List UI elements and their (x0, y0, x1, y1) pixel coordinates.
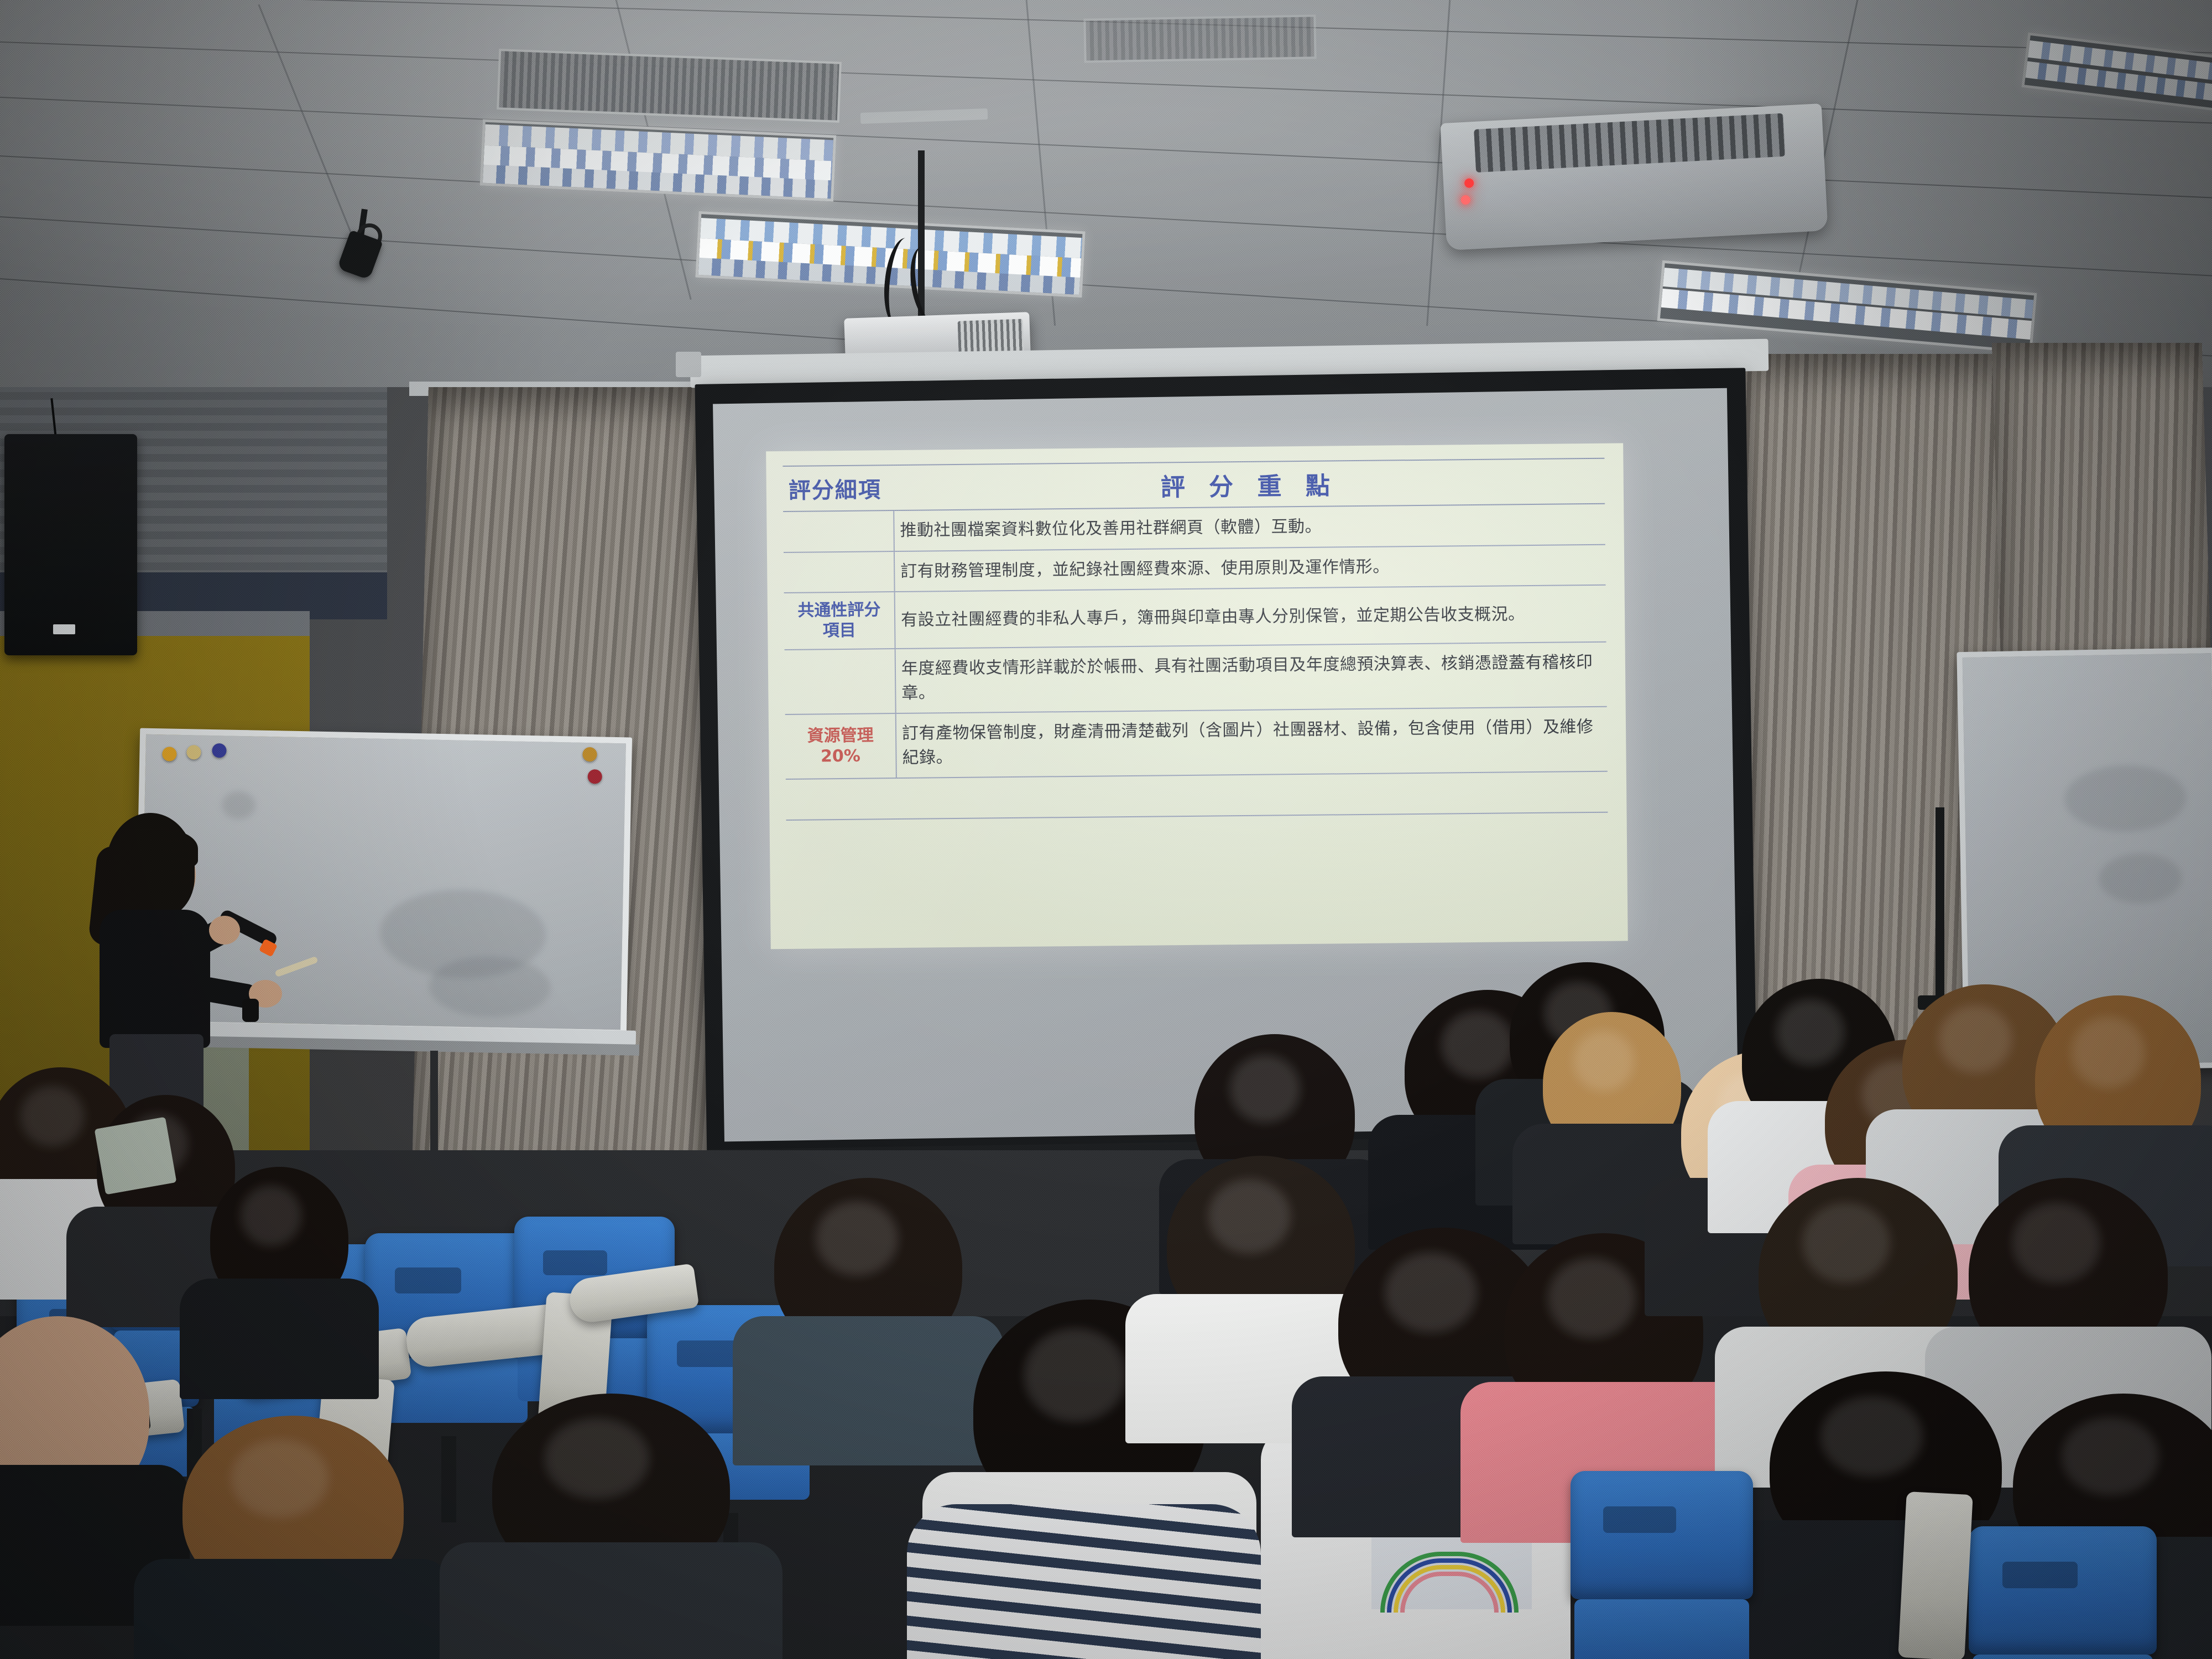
chair-tablet-arm-folded[interactable] (1898, 1491, 1973, 1659)
lecture-chair[interactable] (1571, 1471, 1753, 1659)
audience-member (774, 1178, 962, 1465)
magnet-cream[interactable] (186, 745, 201, 759)
magnet-blue[interactable] (212, 743, 226, 758)
presenter-wristwatch (242, 999, 259, 1022)
row-detail: 有設立社團經費的非私人專戶，簿冊與印章由專人分別保管，並定期公告收支概況。 (895, 585, 1606, 649)
ceiling-light-fixture (480, 119, 837, 202)
notebook[interactable] (95, 1117, 177, 1195)
ceiling-air-conditioner (1440, 103, 1828, 251)
row-detail: 推動社團檔案資料數位化及善用社群網頁（軟體）互動。 (894, 504, 1605, 551)
presenter-left-hand (209, 916, 240, 945)
table-row: 資源管理 20% 訂有產物保管制度，財產清冊清楚截列（含圖片）社團器材、設備，包… (785, 707, 1608, 779)
presenter-fringe (132, 830, 198, 868)
table-row: 共通性評分項目 有設立社團經費的非私人專戶，簿冊與印章由專人分別保管，並定期公告… (784, 585, 1606, 650)
air-return-grille (497, 49, 842, 123)
table-row: 訂有財務管理制度，並紀錄社團經費來源、使用原則及運作情形。 (784, 544, 1606, 593)
table-row: 年度經費收支情形詳載於於帳冊、具有社團活動項目及年度總預決算表、核銷憑證蓋有稽核… (785, 642, 1607, 714)
magnet-red[interactable] (587, 769, 602, 784)
wall-loudspeaker (4, 434, 137, 655)
table-row: 推動社團檔案資料數位化及善用社群網頁（軟體）互動。 (783, 504, 1605, 552)
empty-cell (786, 778, 897, 820)
ac-vent-louvers (1474, 113, 1785, 173)
magnet-yellow[interactable] (162, 747, 176, 761)
row-category-resource: 資源管理 20% (785, 713, 896, 779)
row-category-label: 資源管理 (807, 726, 873, 746)
row-detail: 年度經費收支情形詳載於於帳冊、具有社團活動項目及年度總預決算表、核銷憑證蓋有稽核… (895, 642, 1607, 713)
audience-member (210, 1167, 348, 1399)
projected-slide: 評分細項 評 分 重 點 推動社團檔案資料數位化及善用社群網頁（軟體）互動。 訂… (766, 443, 1628, 949)
ceiling-light-fixture (2021, 32, 2212, 111)
speaker-brand-logo (53, 624, 75, 634)
header-category-column: 評分細項 (782, 465, 894, 512)
row-detail: 訂有產物保管制度，財產清冊清楚截列（含圖片）社團器材、設備，包含使用（借用）及維… (896, 707, 1608, 778)
evaluation-criteria-table: 評分細項 評 分 重 點 推動社團檔案資料數位化及善用社群網頁（軟體）互動。 訂… (782, 458, 1608, 821)
audience-member (182, 1416, 404, 1659)
empty-cell (896, 771, 1608, 819)
row-detail: 訂有財務管理制度，並紀錄社團經費來源、使用原則及運作情形。 (894, 544, 1606, 592)
row-category-percent: 20% (791, 746, 890, 767)
table-row-empty (786, 771, 1608, 820)
magnet-gold[interactable] (582, 747, 597, 761)
audience-member (492, 1394, 730, 1659)
screen-roller-bracket (676, 352, 701, 377)
lecture-hall-photo: 評分細項 評 分 重 點 推動社團檔案資料數位化及善用社群網頁（軟體）互動。 訂… (0, 0, 2212, 1659)
row-category (785, 649, 896, 714)
striped-polo-shirt (907, 1504, 1261, 1659)
row-category: 共通性評分項目 (784, 592, 895, 650)
ac-status-led (1460, 195, 1470, 205)
table-header-row: 評分細項 評 分 重 點 (782, 458, 1605, 512)
ac-status-led (1464, 178, 1474, 188)
lecture-chair[interactable] (1969, 1526, 2157, 1659)
air-return-grille (1083, 14, 1316, 62)
audience-member (0, 1316, 149, 1626)
header-detail-column: 評 分 重 點 (893, 458, 1605, 510)
row-category (784, 551, 895, 593)
row-category (783, 510, 894, 552)
